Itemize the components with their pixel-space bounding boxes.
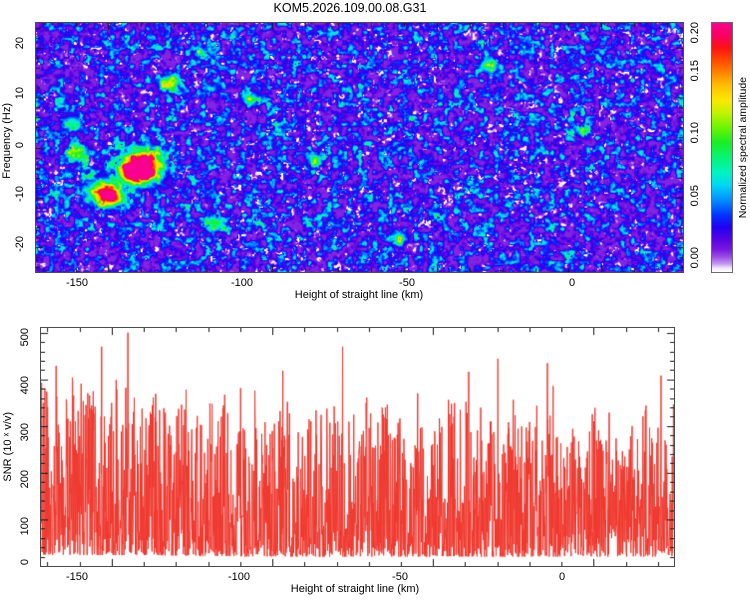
snr-xtick-label-neg100: -100: [228, 571, 250, 583]
snr-x-axis-title: Height of straight line (km): [291, 583, 419, 595]
spec-ytick-label-neg10: -10: [14, 186, 26, 202]
spectrogram-y-axis-title: Frequency (Hz): [1, 103, 13, 179]
colorbar: [711, 22, 733, 273]
spectrogram-plot-area: [35, 22, 684, 273]
figure-canvas: KOM5.2026.109.00.08.G31 20 10 0 -10 -20 …: [0, 0, 750, 600]
spec-xtick-label-neg100: -100: [231, 277, 253, 289]
colorbar-axis-title-text: Normalized spectral amplitude: [737, 77, 749, 218]
spectrogram-x-axis-title: Height of straight line (km): [295, 289, 423, 301]
snr-ytick-label-400: 400: [19, 376, 31, 394]
colorbar-axis-title: Normalized spectral amplitude: [736, 22, 750, 273]
spec-ytick-label-20: 20: [14, 37, 26, 49]
snr-ytick-label-100: 100: [19, 517, 31, 535]
colorbar-tick-label-0.10: 0.10: [689, 122, 701, 143]
spec-ytick-label-10: 10: [14, 87, 26, 99]
snr-y-axis-title: SNR (10 ˣ v/v): [2, 412, 14, 482]
snr-xtick-label-0: 0: [559, 571, 565, 583]
spec-ytick-label-neg20: -20: [14, 236, 26, 252]
colorbar-tick-label-0.05: 0.05: [689, 185, 701, 206]
colorbar-tick-label-0.15: 0.15: [689, 60, 701, 81]
colorbar-tick-label-0.00: 0.00: [689, 247, 701, 268]
spec-ytick-label-0: 0: [14, 142, 26, 148]
snr-ytick-label-500: 500: [19, 328, 31, 346]
snr-xtick-label-neg150: -150: [66, 571, 88, 583]
spec-xtick-label-neg50: -50: [399, 277, 415, 289]
figure-title: KOM5.2026.109.00.08.G31: [0, 1, 700, 15]
spec-xtick-label-neg150: -150: [66, 277, 88, 289]
spectrogram-image: [36, 23, 683, 272]
snr-xtick-label-neg50: -50: [392, 571, 408, 583]
snr-ytick-label-200: 200: [19, 470, 31, 488]
spec-xtick-label-0: 0: [569, 277, 575, 289]
snr-trace: [41, 328, 674, 566]
snr-ytick-label-0: 0: [19, 559, 31, 565]
colorbar-tick-label-0.20: 0.20: [689, 22, 701, 43]
snr-plot-area: [40, 327, 675, 567]
snr-ytick-label-300: 300: [19, 423, 31, 441]
